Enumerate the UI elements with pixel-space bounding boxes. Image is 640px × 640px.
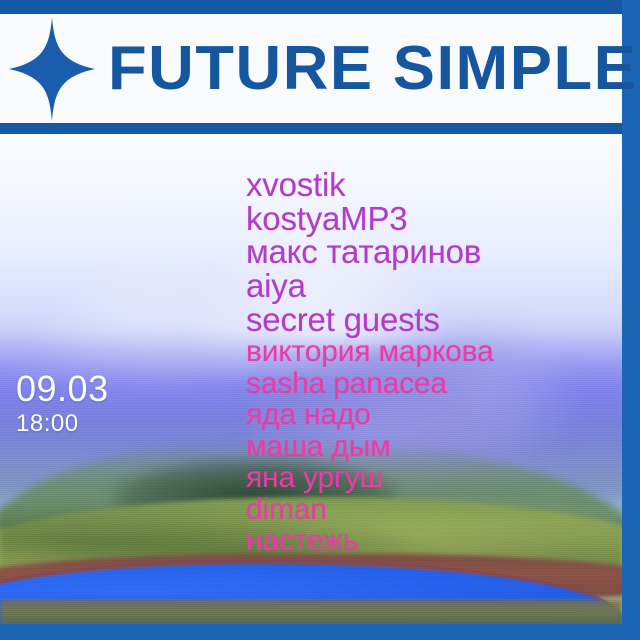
list-item: xvostik [246, 168, 481, 202]
frame-divider-bar [0, 123, 622, 134]
page-title: FUTURE SIMPLE [108, 38, 637, 100]
poster: FUTURE SIMPLE xvostik kostyaMP3 макс тат… [0, 0, 640, 640]
support-list: виктория маркова sasha panacea яда надо … [246, 336, 494, 557]
list-item: яна ургуш [246, 462, 494, 494]
list-item: secret guests [246, 303, 481, 337]
list-item: настежь [246, 525, 494, 557]
event-time: 18:00 [16, 412, 109, 436]
list-item: kostyaMP3 [246, 202, 481, 236]
list-item: яда надо [246, 399, 494, 431]
list-item: макс татаринов [246, 235, 481, 269]
list-item: виктория маркова [246, 336, 494, 368]
frame-bottom-bar [0, 624, 640, 640]
event-datetime: 09.03 18:00 [16, 371, 109, 436]
list-item: sasha panacea [246, 368, 494, 400]
frame-top-bar [0, 0, 640, 14]
list-item: diman [246, 494, 494, 526]
foreground-grass [0, 600, 622, 625]
list-item: маша дым [246, 431, 494, 463]
four-point-sparkle-icon [0, 14, 104, 123]
event-date: 09.03 [16, 371, 109, 407]
poster-header: FUTURE SIMPLE [0, 14, 622, 123]
list-item: aiya [246, 269, 481, 303]
headliner-list: xvostik kostyaMP3 макс татаринов aiya se… [246, 168, 481, 336]
